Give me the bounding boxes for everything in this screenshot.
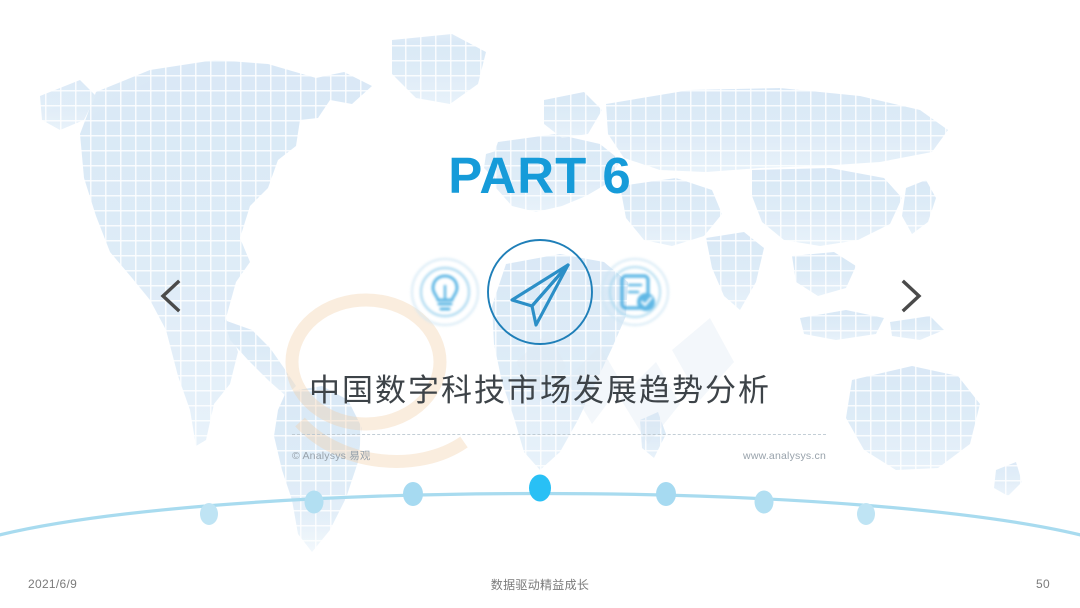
document-check-icon <box>598 255 672 329</box>
website-link[interactable]: www.analysys.cn <box>743 450 826 462</box>
slide-content: PART 6 <box>0 0 1080 560</box>
footer-tagline: 数据驱动精益成长 <box>0 576 1080 593</box>
part-title: PART 6 <box>0 150 1080 201</box>
credit-block: © Analysys 易观 www.analysys.cn <box>292 434 826 463</box>
copyright-text: © Analysys 易观 <box>292 448 371 463</box>
paper-plane-icon <box>485 237 595 347</box>
lightbulb-icon <box>408 255 482 329</box>
icon-cluster <box>410 237 670 347</box>
divider-line <box>292 434 826 435</box>
credit-row: © Analysys 易观 www.analysys.cn <box>292 448 826 463</box>
slide-footer: 2021/6/9 数据驱动精益成长 50 <box>0 560 1080 608</box>
slide-canvas: PART 6 <box>0 0 1080 608</box>
footer-page-number: 50 <box>1036 577 1050 591</box>
slide-subtitle: 中国数字科技市场发展趋势分析 <box>0 372 1080 409</box>
